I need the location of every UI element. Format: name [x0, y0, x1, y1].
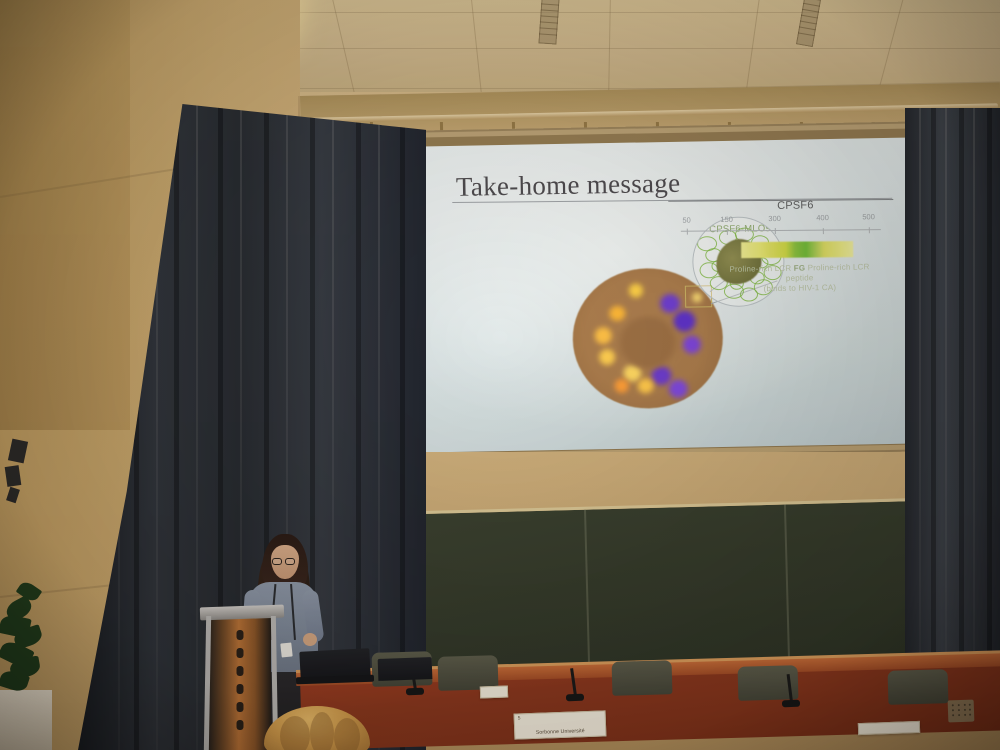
podium — [209, 616, 271, 750]
ceiling-vent-right — [796, 0, 821, 47]
placard-institution: Sorbonne Université — [515, 727, 605, 736]
av-speaker — [948, 700, 975, 723]
placard-seat-number: 5 — [518, 715, 521, 721]
axis-tick-3: 400 — [810, 213, 836, 222]
domain-caption: Proline-rich LCR FG Proline-rich LCR pep… — [697, 262, 902, 296]
axis-tick-0: 50 — [674, 215, 700, 224]
panel-chair — [888, 669, 949, 705]
microphone-base — [782, 700, 800, 708]
panel-chair — [612, 660, 673, 696]
microphone-base — [566, 694, 584, 702]
domain-gradient-bar — [741, 241, 853, 258]
domain-diagram-title: CPSF6 — [740, 199, 850, 213]
microphone-base — [406, 688, 424, 696]
caption-fg: FG — [794, 263, 806, 272]
caption-lcr-right: Proline-rich LCR — [808, 262, 870, 272]
speaker-badge — [280, 642, 292, 657]
axis-tick-1: 150 — [714, 215, 740, 224]
name-placard-blank — [480, 686, 508, 699]
wall-art — [6, 440, 36, 502]
ceiling-vent-center — [538, 0, 559, 45]
lecture-hall-photo: Take-home message — [0, 0, 1000, 750]
projection-screen: Take-home message — [409, 137, 927, 452]
axis-tick-4: 500 — [856, 212, 882, 221]
slide-title: Take-home message — [456, 168, 681, 203]
planter — [0, 690, 52, 750]
left-wall-shadow — [0, 0, 130, 430]
caption-peptide: peptide — [786, 273, 814, 283]
name-placard-sorbonne: 5 Sorbonne Université — [514, 710, 607, 739]
caption-binds: (binds to HIV-1 CA) — [763, 283, 836, 293]
speaker-hand — [303, 633, 317, 646]
name-placard-right — [858, 721, 920, 735]
second-laptop-screen[interactable] — [378, 657, 433, 681]
axis-tick-2: 300 — [762, 214, 788, 223]
glasses-left-lens — [272, 558, 282, 565]
stage-curtain-right — [905, 108, 1000, 668]
caption-lcr-left: Proline-rich LCR — [729, 264, 791, 274]
glasses-right-lens — [285, 558, 295, 565]
